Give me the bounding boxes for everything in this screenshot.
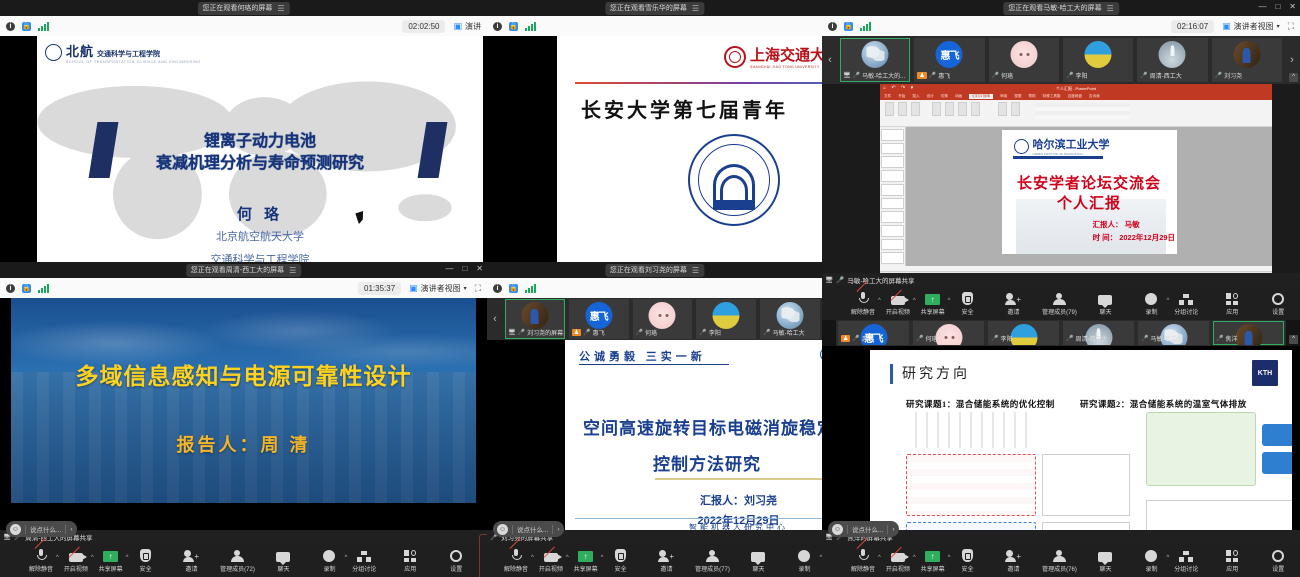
participant-name: 何珞 — [645, 328, 657, 337]
toolbar-button[interactable]: 聊天 — [735, 548, 781, 573]
gear-icon — [1272, 550, 1284, 562]
participant-name-row: 🎤何珞 — [914, 333, 983, 344]
participant-name-row: 🖥🎤马敏-哈工大的... — [841, 70, 909, 81]
fullscreen-icon[interactable]: ⛶ — [475, 283, 481, 294]
share-screen-icon — [578, 551, 593, 562]
participant-thumbnail[interactable]: 🎤周清-西工大 — [1137, 38, 1207, 82]
breakout-icon — [357, 551, 371, 562]
network-signal-icon[interactable] — [525, 284, 536, 293]
info-icon[interactable]: i — [6, 22, 15, 31]
speaker-view-icon: ▣ — [453, 21, 462, 32]
ppt-tab-file[interactable]: 文件 — [884, 94, 891, 99]
nwpu-motto: 公诚勇毅 三实一新 — [579, 348, 706, 364]
slide-title-line2-p5: 控制方法研究 — [653, 450, 761, 475]
toolbar-button[interactable]: 应用 — [1209, 548, 1255, 573]
shield-icon[interactable]: 🔒 — [509, 284, 518, 293]
toolbar-button[interactable]: +邀请 — [990, 548, 1036, 573]
hit-date-value: 2022年12月29日 — [1119, 233, 1175, 242]
panel-jiaoyang: 惠飞♟🎤惠飞🎤何珞🎤李阳🎤周清-西工大🎤马敏-哈工大🎤焦洋 ^ 研究方向 KTH… — [822, 320, 1300, 577]
ppt-tab-help[interactable]: 帮助 — [1028, 94, 1035, 99]
thumbnail-strip-p5: ‹ 🖥🎤刘习尧的屏幕共享惠飞♟🎤惠飞🎤何珞🎤李阳🎤马敏-哈工大 — [487, 298, 822, 340]
ppt-tab-netdisk[interactable]: 百度网盘 — [1068, 94, 1082, 99]
participant-name-row: ♟🎤惠飞 — [839, 333, 908, 344]
toolbar-button[interactable]: +邀请 — [643, 548, 689, 573]
shield-icon[interactable]: 🔒 — [509, 22, 518, 31]
hamburger-icon[interactable]: ☰ — [277, 3, 284, 14]
ppt-tab-view[interactable]: 视图 — [1014, 94, 1021, 99]
title-underline — [655, 478, 822, 480]
ppt-window-title: 个人汇报 - PowerPoint — [880, 86, 1272, 92]
status-icons-p4: i 🔒 — [6, 284, 49, 293]
toolbar-button-label: 邀请 — [1007, 564, 1019, 573]
panel-buaa: 您正在观看何珞的屏幕 ☰ i 🔒 02:02:50 ▣ 演讲 — [0, 0, 487, 262]
shield-icon — [140, 549, 151, 562]
network-signal-icon[interactable] — [38, 284, 49, 293]
topic2-heading: 研究课题2：混合储能系统的温室气体排放 — [1080, 398, 1247, 410]
toolbar-button-label: 共享屏幕 — [99, 564, 123, 573]
chat-icon — [751, 552, 765, 562]
toolbar-button[interactable]: 管理成员(76) — [1036, 548, 1082, 573]
info-icon[interactable]: i — [493, 22, 502, 31]
toolbar-button-label: 安全 — [139, 564, 151, 573]
participant-name: 何珞 — [1001, 71, 1013, 80]
ppt-ribbon-group-2 — [932, 102, 980, 116]
maximize-icon[interactable]: □ — [462, 263, 467, 275]
toolbar-button[interactable]: 应用 — [1209, 291, 1255, 316]
ppt-tab-review[interactable]: 审阅 — [1000, 94, 1007, 99]
shared-stage-p4[interactable]: 多域信息感知与电源可靠性设计 报告人：周 清 2 0 2 2 年 1 2 月 ☺… — [0, 298, 487, 543]
host-badge-icon: ♟ — [572, 329, 581, 336]
toolbar-button-label: 录制 — [323, 564, 335, 573]
zoom-toolbar-p4: 解除静音^开启视频^共享屏幕^安全+邀请管理成员(72)聊天录制^分组讨论应用设… — [0, 543, 487, 577]
sjtu-logo-cn: 上海交通大学 — [750, 44, 822, 65]
close-icon[interactable]: ✕ — [476, 263, 483, 275]
participant-name: 惠飞 — [862, 334, 874, 343]
toolbar-items-p5: 解除静音^开启视频^共享屏幕^安全+邀请管理成员(77)聊天录制^分组讨论应用 — [487, 548, 822, 573]
participant-thumbnail[interactable]: 🎤马敏-哈工大 — [760, 299, 820, 339]
participant-thumbnail[interactable]: 🎤刘习尧 — [1212, 38, 1282, 82]
slide-changan-forum: 上海交通大学 SHANGHAI JIAO TONG UNIVERSITY 长安大… — [557, 36, 822, 262]
titlebar-p4: 您正在观看周清-西工大的屏幕 ☰ — □ ✕ — [0, 262, 487, 278]
participant-name: 马敏-哈工大 — [1150, 334, 1182, 343]
toolbar-button[interactable]: 管理成员(79) — [1036, 291, 1082, 316]
toolbar-button-label: 解除静音 — [851, 564, 875, 573]
toolbar-button-label: 应用 — [1226, 564, 1238, 573]
participant-thumbnail[interactable]: 🎤何珞 — [633, 299, 693, 339]
toolbar-button[interactable]: 设置 — [433, 548, 479, 573]
participants-icon — [1053, 293, 1066, 305]
hamburger-icon[interactable]: ☰ — [692, 3, 699, 14]
buaa-logo: 北航 交通科学与工程学院 SCHOOL OF TRANSPORTATION SC… — [45, 41, 201, 64]
participant-name-row: 🎤李阳 — [697, 327, 755, 338]
toolbar-button[interactable]: 聊天 — [1082, 291, 1128, 316]
toolbar-button-label: 管理成员(72) — [220, 564, 255, 573]
ppt-tab-slideshow[interactable]: 幻灯片放映 — [969, 94, 993, 99]
gradient-divider — [575, 82, 822, 84]
slide-title-line1-p5: 空间高速旋转目标电磁消旋稳定 — [583, 414, 822, 439]
invite-icon: + — [1006, 293, 1021, 305]
view-selector[interactable]: ▣ 演讲者视图 ▾ — [409, 283, 467, 294]
chat-icon — [1098, 552, 1112, 562]
toolbar-button[interactable]: +邀请 — [168, 548, 214, 573]
toolbar-button-label: 分组讨论 — [1174, 307, 1198, 316]
meeting-grid-screen: 您正在观看何珞的屏幕 ☰ i 🔒 02:02:50 ▣ 演讲 — [0, 0, 1300, 577]
window-controls-p4: — □ ✕ — [445, 263, 483, 275]
chat-placeholder-p4: 说点什么... — [30, 524, 61, 534]
participant-name: 惠飞 — [593, 328, 605, 337]
toolbar-button-label: 设置 — [1272, 564, 1284, 573]
camera-muted-icon — [69, 553, 83, 562]
motto-underline — [579, 364, 729, 365]
meeting-topbar-p1: i 🔒 02:02:50 ▣ 演讲 — [0, 16, 487, 36]
chevron-down-icon[interactable]: ▾ — [1277, 23, 1280, 30]
participant-name-row: 🎤周清-西工大 — [1064, 333, 1133, 344]
sjtu-logo-en: SHANGHAI JIAO TONG UNIVERSITY — [750, 65, 822, 69]
thumbnail-list-p5: 🖥🎤刘习尧的屏幕共享惠飞♟🎤惠飞🎤何珞🎤李阳🎤马敏-哈工大 — [503, 299, 822, 339]
participant-thumbnail[interactable]: 惠飞♟🎤惠飞 — [569, 299, 629, 339]
toolbar-button[interactable]: 分组讨论 — [1163, 291, 1209, 316]
record-icon — [323, 550, 335, 562]
mic-muted-icon — [37, 549, 45, 562]
toolbar-button-label: 安全 — [614, 564, 626, 573]
chat-collapse-icon[interactable]: ‹ — [557, 526, 559, 533]
apps-icon — [1226, 293, 1238, 305]
toolbar-button[interactable]: 管理成员(77) — [689, 548, 735, 573]
ppt-ribbon-tabs: 文件 开始 插入 设计 切换 动画 幻灯片放映 审阅 视图 帮助 特殊工具集 百… — [880, 93, 1272, 100]
toolbar-button-label: 开启视频 — [886, 307, 910, 316]
panel-zhouqing: 您正在观看周清-西工大的屏幕 ☰ — □ ✕ i 🔒 01:35:37 ▣ 演讲… — [0, 262, 487, 577]
slide-reporter-p4: 报告人：周 清 — [11, 431, 476, 457]
emoji-icon[interactable]: ☺ — [497, 524, 508, 535]
mic-muted-icon: 🎤 — [636, 329, 643, 336]
shared-stage-p2[interactable]: 上海交通大学 SHANGHAI JIAO TONG UNIVERSITY 长安大… — [487, 36, 822, 262]
shield-icon — [962, 292, 973, 305]
participant-thumbnail[interactable]: 🎤马敏-哈工大 — [1138, 321, 1209, 345]
toolbar-items-p4: 解除静音^开启视频^共享屏幕^安全+邀请管理成员(72)聊天录制^分组讨论应用设… — [0, 548, 479, 573]
mic-active-icon: 🎤 — [518, 329, 525, 336]
ppt-tab-design[interactable]: 设计 — [927, 94, 934, 99]
status-icons-p3: i 🔒 — [828, 22, 871, 31]
participant-name: 马敏-哈工大的... — [862, 71, 905, 80]
mic-muted-icon: 🎤 — [763, 329, 770, 336]
toolbar-button[interactable]: 聊天 — [1082, 548, 1128, 573]
toolbar-button-label: 应用 — [1226, 307, 1238, 316]
participant-thumbnail[interactable]: 🖥🎤刘习尧的屏幕共享 — [505, 299, 565, 339]
toolbar-button[interactable]: 安全 — [122, 548, 168, 573]
powerpoint-window[interactable]: ⌂ ↶ ↷ ▾ 个人汇报 - PowerPoint 文件 开始 插入 设计 切换… — [880, 84, 1272, 280]
mic-muted-icon — [512, 549, 520, 562]
ppt-ribbon-checkboxes[interactable] — [1035, 103, 1130, 119]
share-banner-p3[interactable]: 您正在观看马敏-哈工大的屏幕 ☰ — [1003, 2, 1119, 15]
record-icon — [1145, 293, 1157, 305]
titlebar-p2: 您正在观看雪乐华的屏幕 ☰ — [487, 0, 822, 16]
share-banner-p5[interactable]: 您正在观看刘习尧的屏幕 ☰ — [605, 264, 704, 277]
topbar-right-p4: 01:35:37 ▣ 演讲者视图 ▾ ⛶ — [358, 282, 481, 295]
ppt-tab-insert[interactable]: 插入 — [912, 94, 919, 99]
toolbar-button-label: 安全 — [961, 307, 973, 316]
toolbar-button[interactable]: 设置 — [1255, 548, 1300, 573]
avatar — [1085, 41, 1112, 68]
ppt-ribbon-group-3 — [998, 102, 1020, 116]
fig-controller-block — [906, 412, 1036, 448]
chat-input-bubble-p6[interactable]: ☺ 说点什么... ‹ — [828, 521, 899, 537]
kth-logo-icon: KTH — [1252, 360, 1278, 386]
toolbar-button-label: 安全 — [961, 564, 973, 573]
thumbnail-strip-p3: ‹ 🖥🎤马敏-哈工大的...惠飞♟🎤惠飞🎤何珞🎤李阳🎤周清-西工大🎤刘习尧 › … — [822, 36, 1300, 84]
info-icon[interactable]: i — [828, 22, 837, 31]
thumbs-prev-button[interactable]: ‹ — [822, 54, 838, 66]
view-selector[interactable]: ▣ 演讲者视图 ▾ — [1222, 21, 1280, 32]
chat-input-bubble-p5[interactable]: ☺ 说点什么... ‹ — [493, 521, 564, 537]
toolbar-button-label: 分组讨论 — [352, 564, 376, 573]
chat-collapse-icon[interactable]: ‹ — [892, 526, 894, 533]
toolbar-button[interactable]: 设置 — [1255, 291, 1300, 316]
fig-ghg-blue-boxes — [1262, 424, 1292, 476]
hamburger-icon[interactable]: ☰ — [1107, 3, 1114, 14]
share-banner-p4[interactable]: 您正在观看周清-西工大的屏幕 ☰ — [186, 264, 302, 277]
gear-icon — [450, 550, 462, 562]
slide-title-line1: 锂离子动力电池 — [37, 131, 483, 153]
ppt-body: 哈尔滨工业大学 HARBIN INSTITUTE OF TECHNOLOGY 长… — [880, 127, 1272, 266]
participant-name-row: 🎤焦洋 — [1214, 333, 1283, 344]
breakout-icon — [1179, 294, 1193, 305]
slide-buaa-battery: 北航 交通科学与工程学院 SCHOOL OF TRANSPORTATION SC… — [37, 36, 483, 262]
hamburger-icon[interactable]: ☰ — [692, 265, 699, 276]
mic-muted-icon: 🎤 — [1066, 335, 1073, 342]
shield-icon — [962, 549, 973, 562]
mic-muted-icon: 🎤 — [1141, 335, 1148, 342]
hit-date: 时 间： 2022年12月29日 — [1093, 232, 1176, 243]
participant-name-row: 🎤何珞 — [990, 70, 1058, 81]
participant-thumbnail[interactable]: 🎤焦洋 — [1213, 321, 1284, 345]
mic-muted-icon: 🎤 — [852, 335, 859, 342]
participant-thumbnail[interactable]: 🎤李阳 — [696, 299, 756, 339]
view-label: 演讲者视图 — [421, 283, 461, 294]
topbar-right-p1: 02:02:50 ▣ 演讲 — [402, 20, 481, 33]
hit-title-line1: 长安学者论坛交流会 — [1002, 172, 1177, 193]
fullscreen-icon[interactable]: ⛶ — [1288, 21, 1294, 32]
avatar — [777, 302, 804, 329]
participant-name-row: ♟🎤惠飞 — [570, 327, 628, 338]
view-label: 演讲者视图 — [1234, 21, 1274, 32]
ppt-tab-animations[interactable]: 动画 — [955, 94, 962, 99]
toolbar-items-p6: 解除静音^开启视频^共享屏幕^安全+邀请管理成员(76)聊天录制^分组讨论应用设… — [822, 548, 1300, 573]
shield-icon[interactable]: 🔒 — [22, 284, 31, 293]
thumbnail-list-p6: 惠飞♟🎤惠飞🎤何珞🎤李阳🎤周清-西工大🎤马敏-哈工大🎤焦洋 — [836, 321, 1286, 345]
shared-stage-p6[interactable]: 研究方向 KTH 研究课题1：混合储能系统的优化控制 研究课题2：混合储能系统的… — [822, 346, 1300, 543]
mic-muted-icon: 🎤 — [699, 329, 706, 336]
participant-name-row: 🎤马敏-哈工大 — [761, 327, 819, 338]
thumbnail-list-p3: 🖥🎤马敏-哈工大的...惠飞♟🎤惠飞🎤何珞🎤李阳🎤周清-西工大🎤刘习尧 — [838, 38, 1284, 82]
sjtu-seal-icon — [724, 46, 746, 68]
ppt-tab-transitions[interactable]: 切换 — [941, 94, 948, 99]
participant-name: 马敏-哈工大 — [773, 328, 805, 337]
avatar — [1233, 41, 1260, 68]
toolbar-button-label: 开启视频 — [539, 564, 563, 573]
slide-despin-control: 公诚勇毅 三实一新 西北工业大学 空间高速旋转目标电磁消旋稳定 控制方法研究 汇… — [565, 340, 822, 543]
toolbar-button-label: 分组讨论 — [1174, 564, 1198, 573]
participant-name: 刘习尧 — [1224, 71, 1242, 80]
zoom-toolbar-p6: 解除静音^开启视频^共享屏幕^安全+邀请管理成员(76)聊天录制^分组讨论应用设… — [822, 543, 1300, 577]
breakout-icon — [1179, 551, 1193, 562]
share-banner-p2[interactable]: 您正在观看雪乐华的屏幕 ☰ — [605, 2, 704, 15]
share-tag-p3: 🖥 🎤 马敏-哈工大的屏幕共享 — [822, 273, 1300, 286]
meeting-topbar-p5: i 🔒 — [487, 278, 822, 298]
emoji-icon[interactable]: ☺ — [10, 524, 21, 535]
emoji-icon[interactable]: ☺ — [832, 524, 843, 535]
invite-icon: + — [659, 550, 674, 562]
end-meeting-button[interactable]: 结束会议 — [479, 534, 487, 577]
toolbar-button[interactable]: 应用 — [387, 548, 433, 573]
maximize-icon[interactable]: □ — [1275, 1, 1280, 13]
participant-name: 李阳 — [1075, 71, 1087, 80]
invite-icon: + — [1006, 550, 1021, 562]
speaker-view-icon: ▣ — [409, 283, 418, 294]
camera-muted-icon — [891, 553, 905, 562]
network-signal-icon[interactable] — [38, 22, 49, 31]
mic-muted-icon: 🎤 — [1140, 72, 1147, 79]
participant-name-row: 🎤李阳 — [1064, 70, 1132, 81]
buaa-logo-en: SCHOOL OF TRANSPORTATION SCIENCE AND ENG… — [66, 60, 201, 64]
buaa-logo-dept: 交通科学与工程学院 — [97, 49, 160, 59]
participant-name: 焦洋 — [1225, 334, 1237, 343]
host-badge-icon: ♟ — [917, 72, 926, 79]
speaker-view-icon: ▣ — [1222, 21, 1231, 32]
titlebar-p1: 您正在观看何珞的屏幕 ☰ — [0, 0, 487, 16]
share-banner-text-p3: 您正在观看马敏-哈工大的屏幕 — [1008, 3, 1101, 14]
close-icon[interactable]: ✕ — [1289, 1, 1296, 13]
toolbar-button-label: 共享屏幕 — [921, 564, 945, 573]
titlebar-p5: 您正在观看刘习尧的屏幕 ☰ — [487, 262, 822, 278]
slide-header-p2: 长安大学第七届青年 — [581, 94, 788, 123]
shared-stage-p1[interactable]: 北航 交通科学与工程学院 SCHOOL OF TRANSPORTATION SC… — [0, 36, 487, 262]
toolbar-button-label: 开启视频 — [886, 564, 910, 573]
toolbar-button-label: 聊天 — [752, 564, 764, 573]
fig-power-direction-control — [906, 454, 1036, 516]
ppt-slide-thumbnail-pane[interactable] — [880, 127, 906, 266]
shield-icon — [615, 549, 626, 562]
mic-muted-icon: 🎤 — [929, 72, 936, 79]
chevron-down-icon[interactable]: ▾ — [464, 285, 467, 292]
toolbar-button-label: 管理成员(77) — [695, 564, 730, 573]
toolbar-button[interactable]: 聊天 — [260, 548, 306, 573]
topbar-right-p3: 02:16:07 ▣ 演讲者视图 ▾ ⛶ — [1171, 20, 1294, 33]
participant-thumbnail[interactable]: 🎤周清-西工大 — [1063, 321, 1134, 345]
apps-icon — [404, 550, 416, 562]
hit-date-label: 时 间： — [1093, 233, 1118, 242]
hit-logo-cn: 哈尔滨工业大学 — [1033, 136, 1110, 152]
info-icon[interactable]: i — [6, 284, 15, 293]
footer-divider — [575, 518, 822, 519]
toolbar-button[interactable]: 安全 — [944, 291, 990, 316]
slide-title-p6: 研究方向 — [902, 363, 970, 383]
slide-title-p1: 锂离子动力电池 衰减机理分析与寿命预测研究 — [37, 131, 483, 174]
participant-thumbnail[interactable]: 🖥🎤马敏-哈工大的... — [840, 38, 910, 82]
participant-thumbnail[interactable]: 惠飞♟🎤惠飞 — [838, 321, 909, 345]
ppt-tab-home[interactable]: 开始 — [898, 94, 905, 99]
toolbar-button-label: 解除静音 — [504, 564, 528, 573]
ppt-tab-tools[interactable]: 特殊工具集 — [1043, 94, 1061, 99]
minimize-icon[interactable]: — — [445, 263, 453, 275]
title-accent-bar — [890, 364, 893, 384]
shared-stage-p5[interactable]: 公诚勇毅 三实一新 西北工业大学 空间高速旋转目标电磁消旋稳定 控制方法研究 汇… — [487, 340, 822, 543]
slide-reporter-p5: 汇报人：刘习尧 — [565, 492, 822, 508]
participant-thumbnail[interactable]: 🎤何珞 — [989, 38, 1059, 82]
participant-thumbnail[interactable]: 🎤何珞 — [913, 321, 984, 345]
share-banner-p1[interactable]: 您正在观看何珞的屏幕 ☰ — [197, 2, 289, 15]
status-icons-p2: i 🔒 — [493, 22, 536, 31]
participant-name: 李阳 — [709, 328, 721, 337]
toolbar-button[interactable]: 安全 — [597, 548, 643, 573]
toolbar-button-label: 共享屏幕 — [921, 307, 945, 316]
toolbar-button[interactable]: 安全 — [944, 548, 990, 573]
chat-input-bubble-p4[interactable]: ☺ 说点什么... ‹ — [6, 521, 77, 537]
avatar — [649, 302, 676, 329]
toolbar-button-label: 录制 — [1145, 307, 1157, 316]
participant-name: 周清-西工大 — [1075, 334, 1107, 343]
mic-muted-icon: 🎤 — [583, 329, 590, 336]
network-signal-icon[interactable] — [860, 22, 871, 31]
ppt-ribbon-group-1 — [885, 102, 920, 116]
participant-name: 何珞 — [925, 334, 937, 343]
ppt-tab-tellme[interactable]: 告诉我 — [1089, 94, 1100, 99]
toolbar-button-label: 聊天 — [1099, 564, 1111, 573]
toolbar-button[interactable]: +邀请 — [990, 291, 1036, 316]
thumbs-next-button[interactable]: › — [1284, 54, 1300, 66]
apps-icon — [1226, 550, 1238, 562]
sjtu-logo: 上海交通大学 SHANGHAI JIAO TONG UNIVERSITY — [724, 44, 822, 69]
participant-name-row: 🎤李阳 — [989, 333, 1058, 344]
status-icons-p5: i 🔒 — [493, 284, 536, 293]
zoom-toolbar-p5: 解除静音^开启视频^共享屏幕^安全+邀请管理成员(77)聊天录制^分组讨论应用 — [487, 543, 822, 577]
avatar — [1010, 41, 1037, 68]
thumbs-collapse-button[interactable]: ^ — [1289, 335, 1298, 344]
thumbs-collapse-button[interactable]: ^ — [1289, 73, 1298, 82]
thumbnail-strip-p6: 惠飞♟🎤惠飞🎤何珞🎤李阳🎤周清-西工大🎤马敏-哈工大🎤焦洋 ^ — [836, 320, 1286, 346]
chat-collapse-icon[interactable]: ‹ — [70, 526, 72, 533]
minimize-icon[interactable]: — — [1258, 1, 1266, 13]
participant-name: 周清-西工大 — [1150, 71, 1182, 80]
thumbs-prev-button[interactable]: ‹ — [487, 313, 503, 325]
participant-thumbnail[interactable]: 惠飞♟🎤惠飞 — [914, 38, 984, 82]
shield-icon[interactable]: 🔒 — [22, 22, 31, 31]
hamburger-icon[interactable]: ☰ — [289, 265, 296, 276]
participant-thumbnail[interactable]: 🎤李阳 — [1063, 38, 1133, 82]
toolbar-button-label: 录制 — [798, 564, 810, 573]
shield-icon[interactable]: 🔒 — [844, 22, 853, 31]
toolbar-button-label: 设置 — [1272, 307, 1284, 316]
avatar — [1159, 41, 1186, 68]
panel-hit-ppt: 您正在观看马敏-哈工大的屏幕 ☰ — □ ✕ i 🔒 02:16:07 ▣ 演讲… — [822, 0, 1300, 320]
panel-changan: 您正在观看雪乐华的屏幕 ☰ i 🔒 上海交通大学 SHANGHAI JIAO T… — [487, 0, 822, 262]
toolbar-button[interactable]: 分组讨论 — [341, 548, 387, 573]
participant-thumbnail[interactable]: 🎤李阳 — [988, 321, 1059, 345]
zoom-toolbar-p3: 解除静音^开启视频^共享屏幕^安全+邀请管理成员(79)聊天录制^分组讨论应用设… — [822, 286, 1300, 320]
share-screen-icon — [925, 551, 940, 562]
toolbar-button[interactable]: 管理成员(72) — [214, 548, 260, 573]
view-label: 演讲 — [465, 21, 481, 32]
info-icon[interactable]: i — [493, 284, 502, 293]
view-selector[interactable]: ▣ 演讲 — [453, 21, 481, 32]
network-signal-icon[interactable] — [525, 22, 536, 31]
ppt-slide-canvas[interactable]: 哈尔滨工业大学 HARBIN INSTITUTE OF TECHNOLOGY 长… — [906, 127, 1272, 266]
share-screen-icon — [103, 551, 118, 562]
window-controls-p3: — □ ✕ — [1258, 1, 1296, 13]
toolbar-button[interactable]: 分组讨论 — [1163, 548, 1209, 573]
participant-name-row: 🎤马敏-哈工大 — [1139, 333, 1208, 344]
ppt-titlebar: ⌂ ↶ ↷ ▾ 个人汇报 - PowerPoint — [880, 84, 1272, 93]
record-icon — [798, 550, 810, 562]
